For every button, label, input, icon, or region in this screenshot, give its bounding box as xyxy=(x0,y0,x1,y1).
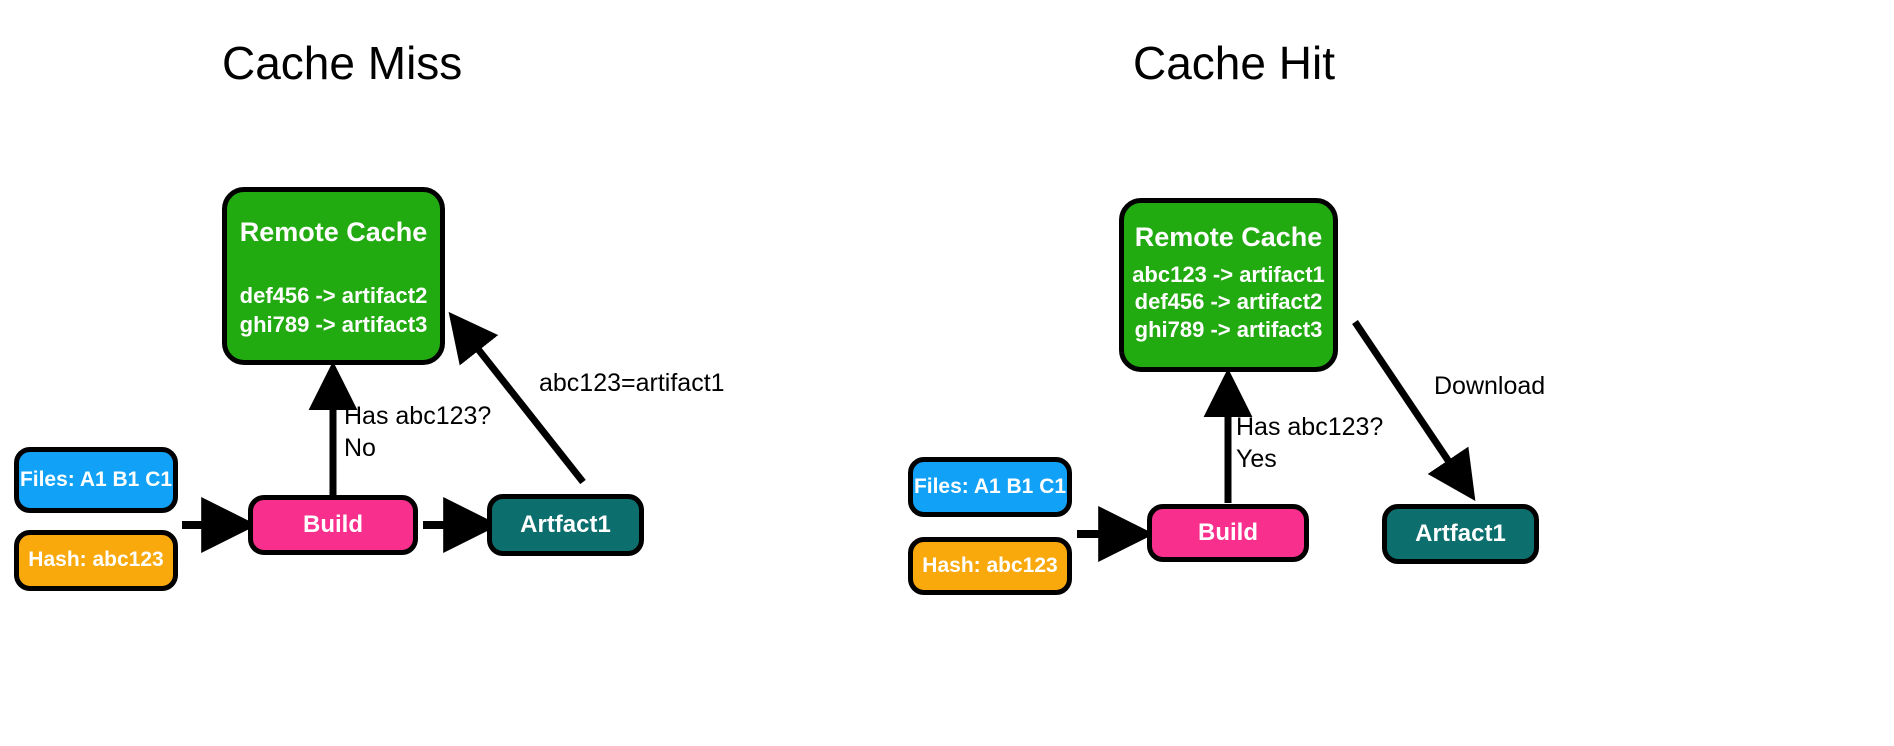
remote-cache-box-miss: Remote Cache def456 -> artifact2 ghi789 … xyxy=(222,187,445,365)
cache-entry: ghi789 -> artifact3 xyxy=(1135,316,1323,344)
hash-box-miss: Hash: abc123 xyxy=(14,530,178,591)
build-label: Build xyxy=(303,510,363,540)
remote-cache-box-hit: Remote Cache abc123 -> artifact1 def456 … xyxy=(1119,198,1338,372)
artifact-label: Artfact1 xyxy=(1415,519,1506,549)
cache-entry: abc123 -> artifact1 xyxy=(1132,261,1325,289)
connector-layer xyxy=(0,0,1894,746)
cache-entry: ghi789 -> artifact3 xyxy=(240,311,428,339)
files-label: Files: A1 B1 C1 xyxy=(20,467,172,493)
build-box-miss: Build xyxy=(248,495,418,555)
artifact-label: Artfact1 xyxy=(520,510,611,540)
edge-label-upload-miss: abc123=artifact1 xyxy=(539,367,725,399)
diagram-title-cache-miss: Cache Miss xyxy=(222,36,462,90)
cache-entry: def456 -> artifact2 xyxy=(240,282,428,310)
remote-cache-title-miss: Remote Cache xyxy=(240,216,428,250)
cache-entry: def456 -> artifact2 xyxy=(1135,288,1323,316)
files-label: Files: A1 B1 C1 xyxy=(914,474,1066,500)
files-box-miss: Files: A1 B1 C1 xyxy=(14,447,178,513)
artifact-box-hit: Artfact1 xyxy=(1382,504,1539,564)
edge-label-query-miss: Has abc123? No xyxy=(344,400,491,464)
artifact-box-miss: Artfact1 xyxy=(487,494,644,556)
files-box-hit: Files: A1 B1 C1 xyxy=(908,457,1072,517)
diagram-canvas: Cache Miss Remote Cache def456 -> artifa… xyxy=(0,0,1894,746)
diagram-title-cache-hit: Cache Hit xyxy=(1133,36,1335,90)
remote-cache-title-hit: Remote Cache xyxy=(1135,221,1323,255)
build-box-hit: Build xyxy=(1147,504,1309,562)
hash-label: Hash: abc123 xyxy=(28,547,163,573)
build-label: Build xyxy=(1198,518,1258,548)
hash-label: Hash: abc123 xyxy=(922,553,1057,579)
edge-label-query-hit: Has abc123? Yes xyxy=(1236,411,1383,475)
edge-label-download-hit: Download xyxy=(1434,370,1545,402)
hash-box-hit: Hash: abc123 xyxy=(908,537,1072,595)
